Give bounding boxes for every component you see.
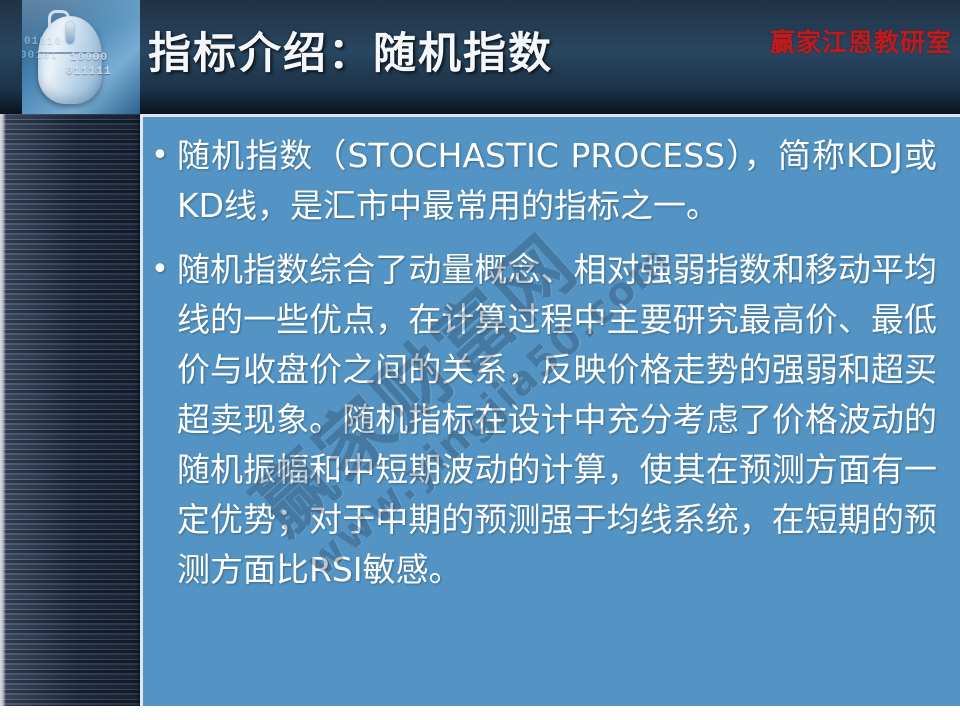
bullet-text-1: 随机指数（STOCHASTIC PROCESS），简称KDJ或KD线，是汇市中最…	[177, 131, 960, 231]
page-title: 指标介绍：随机指数	[148, 26, 553, 82]
brand-stamp: 赢家江恩教研室	[770, 28, 952, 58]
binary-digits-4: 011111	[66, 66, 140, 79]
list-item: • 随机指数综合了动量概念、相对强弱指数和移动平均线的一些优点，在计算过程中主要…	[143, 245, 960, 595]
bullet-list: • 随机指数（STOCHASTIC PROCESS），简称KDJ或KD线，是汇市…	[143, 131, 960, 609]
bottom-white-strip	[0, 706, 960, 720]
computer-mouse-photo: 01010 00101 10000 011111	[22, 0, 140, 114]
binary-digits-1: 01010	[24, 36, 114, 49]
content-panel: • 随机指数（STOCHASTIC PROCESS），简称KDJ或KD线，是汇市…	[140, 114, 960, 706]
bullet-marker-icon: •	[143, 131, 177, 181]
list-item: • 随机指数（STOCHASTIC PROCESS），简称KDJ或KD线，是汇市…	[143, 131, 960, 231]
bullet-text-2: 随机指数综合了动量概念、相对强弱指数和移动平均线的一些优点，在计算过程中主要研究…	[177, 245, 960, 595]
bullet-marker-icon: •	[143, 245, 177, 295]
header-bar: 01010 00101 10000 011111 指标介绍：随机指数 赢家江恩教…	[0, 0, 960, 114]
binary-digits-3: 10000	[70, 52, 140, 65]
slide-root: 01010 00101 10000 011111 指标介绍：随机指数 赢家江恩教…	[0, 0, 960, 720]
